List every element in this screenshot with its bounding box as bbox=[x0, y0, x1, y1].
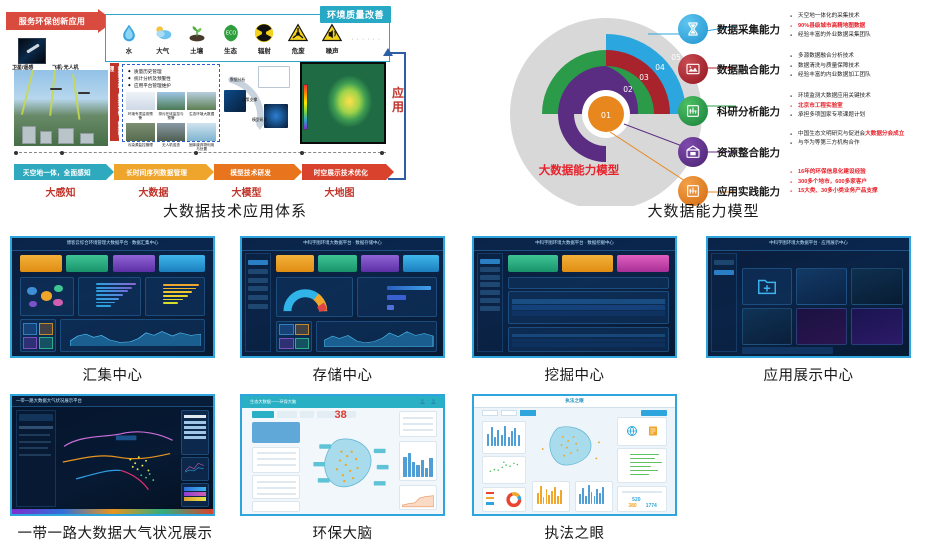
capability-bullets-4: 中国生态文明研究与促进会大数据分会成立 与华为等第三方机构合作 bbox=[790, 130, 937, 149]
thumb-waste bbox=[187, 123, 216, 141]
bullet: 与华为等第三方机构合作 bbox=[790, 139, 937, 149]
map-mini-chart bbox=[181, 457, 209, 481]
bullet: 承担多项国家专项课题计划 bbox=[790, 111, 937, 121]
storage-bars-card bbox=[357, 277, 437, 317]
kpi-card-2 bbox=[318, 255, 356, 273]
light-dashboard-screenshot: 执法之眼 bbox=[474, 396, 675, 514]
noise-warning-icon bbox=[322, 23, 342, 43]
trend-chart-card bbox=[316, 321, 437, 353]
photo-caption: 污染源监控管理 bbox=[126, 143, 155, 152]
map-screenshot: 一带一路大数据大气状况展示平台 bbox=[12, 396, 213, 514]
drone-icon bbox=[50, 88, 62, 90]
flow-step-text: 模型技术研发 bbox=[230, 167, 271, 177]
dashboard-title: 中科宇图环境大数据平台 · 数据存储中心 bbox=[303, 240, 382, 246]
add-application-card[interactable] bbox=[742, 268, 792, 306]
capability-row-3[interactable]: 科研分析能力 bbox=[678, 96, 780, 126]
legend-swatch bbox=[486, 492, 494, 495]
capability-name-4: 资源整合能力 bbox=[717, 145, 780, 160]
bullet: 经验丰富的内业数据加工团队 bbox=[790, 71, 937, 81]
dashboard-screenshot: 中科宇图环境大数据平台 · 应用展示中心 bbox=[708, 238, 909, 356]
photo-caption: 固体废弃物利用与处置 bbox=[187, 143, 216, 152]
table-row bbox=[512, 339, 664, 342]
tech-application-system-panel: 服务环保创新应用 水 大气 bbox=[0, 0, 470, 228]
kpi-card-4 bbox=[403, 255, 439, 273]
trend-area-chart bbox=[70, 327, 201, 346]
site-dots-green bbox=[141, 473, 155, 481]
ring-number-03: 03 bbox=[639, 73, 649, 82]
model-cap-label: 模型研发 bbox=[252, 118, 267, 123]
left-stat-card-2 bbox=[252, 475, 300, 499]
eco-leaf-icon: ECO bbox=[221, 23, 241, 43]
app-thumb-card[interactable] bbox=[742, 308, 792, 346]
sensing-ray bbox=[72, 74, 80, 120]
scatter-plot bbox=[487, 460, 521, 475]
table-row bbox=[512, 311, 664, 316]
flow-step-1: 天空地一体，全面感知 bbox=[14, 164, 106, 180]
building-shape bbox=[40, 131, 52, 144]
tab[interactable] bbox=[300, 411, 314, 418]
building-shape bbox=[80, 133, 94, 144]
left-stat-card-3 bbox=[252, 501, 300, 512]
bullet: 15大类、30多小类业务产品支撑 bbox=[790, 187, 937, 197]
summary-value-3: 1774 bbox=[646, 503, 657, 509]
region-map-vector bbox=[532, 417, 612, 478]
env-item-atmosphere: 大气 bbox=[146, 23, 180, 55]
capability-name-2: 数据融合能力 bbox=[717, 62, 780, 77]
thumbnail-caption-2: 存储中心 bbox=[240, 364, 445, 385]
satellite-photo bbox=[18, 38, 46, 64]
flow-step-text: 天空地一体，全面感知 bbox=[23, 167, 91, 177]
flow-arrow-icon bbox=[206, 164, 214, 180]
light-title: 执法之眼 bbox=[565, 398, 583, 404]
capability-bullets-1: 天空地一体化的采集技术 90%县级城市高精地图数据 经验丰富的外业数据采集团队 bbox=[790, 12, 937, 41]
timeline-dotted-line bbox=[14, 152, 386, 153]
soil-sprout-icon bbox=[187, 23, 207, 43]
bullet: 90%县级城市高精地图数据 bbox=[790, 22, 937, 32]
donut-chart bbox=[505, 491, 523, 508]
bullet-highlight: 大数据分会成立 bbox=[865, 131, 904, 137]
kpi-card-2 bbox=[66, 255, 108, 273]
dashboard-screenshot: 中科宇图环境大数据平台 · 数据挖掘中心 bbox=[474, 238, 675, 356]
bar-chart-card bbox=[482, 421, 526, 454]
legend-swatch bbox=[486, 497, 494, 500]
flow-diagram-image bbox=[258, 66, 290, 88]
summary-value-1: 520 bbox=[632, 497, 640, 503]
bullet: 应用平台管理维护 bbox=[128, 82, 216, 89]
flow-label-1: 大感知 bbox=[14, 184, 107, 199]
bullet: 天空地一体化的采集技术 bbox=[790, 12, 937, 22]
timeline-dot bbox=[14, 151, 18, 155]
env-label: 辐射 bbox=[258, 45, 271, 55]
stat-cards bbox=[20, 319, 56, 352]
thumbnail-caption-3: 挖掘中心 bbox=[472, 364, 677, 385]
archive-box-icon bbox=[685, 144, 701, 160]
left-stat-card bbox=[252, 447, 300, 473]
bar-rank-card bbox=[78, 277, 140, 316]
bullet-highlight: 北京市工程实验室 bbox=[790, 102, 937, 112]
tab-bar[interactable] bbox=[482, 410, 536, 416]
right-stat-card bbox=[399, 411, 437, 437]
right-bar-chart-card bbox=[399, 441, 437, 481]
world-map-vector bbox=[58, 410, 179, 507]
tab-active[interactable] bbox=[252, 411, 274, 418]
thumbnail-eco-brain[interactable]: 生态大数据——环保大脑 38 bbox=[240, 394, 445, 516]
env-item-water: 水 bbox=[112, 23, 146, 55]
table-header-row bbox=[512, 334, 664, 337]
capability-row-4[interactable]: 资源整合能力 bbox=[678, 137, 780, 167]
flow-step-text: 长时间序列数据管理 bbox=[126, 167, 187, 177]
lab-analysis-icon bbox=[685, 103, 701, 119]
chart-image-icon bbox=[685, 61, 701, 77]
bubble bbox=[41, 291, 52, 301]
flow-label-4: 大地图 bbox=[293, 184, 386, 199]
flow-label-2: 大数据 bbox=[107, 184, 200, 199]
right-trend-card bbox=[399, 485, 437, 511]
capability-icon-wrap-2 bbox=[678, 54, 708, 84]
building-shape bbox=[58, 128, 74, 144]
capability-icon-wrap-3 bbox=[678, 96, 708, 126]
bubble bbox=[29, 301, 37, 308]
dashboard-title: 中科宇图环境大数据平台 · 应用展示中心 bbox=[769, 240, 848, 246]
app-thumb-card[interactable] bbox=[796, 268, 846, 306]
env-label: 危废 bbox=[292, 45, 305, 55]
ring-number-01: 01 bbox=[601, 111, 611, 120]
add-folder-icon bbox=[756, 275, 778, 297]
route-line-blue bbox=[76, 470, 121, 479]
capability-name-5: 应用实践能力 bbox=[717, 184, 780, 199]
flow-step-3: 模型技术研发 bbox=[214, 164, 294, 180]
tab[interactable] bbox=[482, 410, 498, 416]
big-data-capability-model-panel: 01 02 03 04 05 大数据能力模型 数据采集能力 天空地一体化的采集技… bbox=[470, 0, 937, 228]
light-title: 生态大数据——环保大脑 bbox=[250, 399, 296, 405]
timeline-dot bbox=[380, 151, 384, 155]
map-search-input[interactable] bbox=[19, 414, 53, 421]
bullet: 质量历史管理 bbox=[128, 68, 216, 75]
trend-area-chart bbox=[324, 328, 433, 347]
env-item-soil: 土壤 bbox=[180, 23, 214, 55]
environment-quality-tag: 环境质量改善 bbox=[320, 6, 391, 23]
dashboard-sidebar[interactable] bbox=[477, 253, 503, 352]
dashboard-title: 博客云综合环境管理大数据平台 · 数据汇集中心 bbox=[67, 240, 159, 246]
data-management-box: 质量历史管理 统计分析及预警性 应用平台管理维护 环境专项监测预警 排污在线监控… bbox=[122, 64, 220, 142]
bullet: 环境监测大数据应用关键技术 bbox=[790, 92, 937, 102]
region-rank-card bbox=[617, 448, 667, 483]
dashboard-sidebar[interactable] bbox=[711, 253, 737, 352]
ring-number-04: 04 bbox=[655, 63, 665, 72]
model-rank-card bbox=[508, 327, 669, 353]
scatter-chart-card bbox=[482, 456, 526, 484]
env-label: 水 bbox=[126, 45, 133, 55]
thumb-chart bbox=[126, 92, 155, 110]
chart-center-label: 大数据能力模型 bbox=[504, 162, 654, 178]
bullet: 数据清洗与质量保障技术 bbox=[790, 62, 937, 72]
hourglass-icon bbox=[685, 21, 701, 37]
flow-step-2: 长时间序列数据管理 bbox=[114, 164, 206, 180]
app-thumb-card[interactable] bbox=[851, 268, 903, 306]
table-row bbox=[512, 343, 664, 346]
photo-caption: 无人机巡查 bbox=[157, 143, 186, 152]
stat-cards bbox=[276, 321, 312, 353]
ground-sensing-photo bbox=[14, 70, 108, 146]
svg-text:ECO: ECO bbox=[225, 31, 236, 37]
bullet: 多源数据融合分析技术 bbox=[790, 52, 937, 62]
map-bottom-legend bbox=[12, 509, 213, 514]
flow-step-text: 时空展示技术优化 bbox=[314, 167, 368, 177]
hazard-warning-icon bbox=[288, 23, 308, 43]
table-row bbox=[512, 305, 664, 310]
model-cap-label: 决策支撑 bbox=[242, 98, 257, 103]
dashboard-title: 中科宇图环境大数据平台 · 数据挖掘中心 bbox=[535, 240, 614, 246]
cloud-sun-icon bbox=[153, 23, 173, 43]
user-icons[interactable] bbox=[419, 398, 437, 405]
thumbnail-caption-6: 环保大脑 bbox=[240, 522, 445, 543]
thumbnail-caption-4: 应用展示中心 bbox=[706, 364, 911, 385]
tab[interactable] bbox=[277, 411, 297, 418]
map-info-panel bbox=[16, 410, 56, 507]
kpi-card-3 bbox=[113, 255, 155, 273]
photo-caption: 排污在线监控与预警 bbox=[157, 112, 186, 121]
thumbnail-caption-1: 汇集中心 bbox=[10, 364, 215, 385]
water-drop-icon bbox=[119, 23, 139, 43]
aqi-value: 38 bbox=[334, 409, 346, 421]
kpi-card-1 bbox=[276, 255, 314, 273]
summary-card: 520 380 1774 bbox=[617, 486, 667, 512]
spatiotemporal-map-photo bbox=[300, 62, 386, 144]
sensing-ray bbox=[21, 70, 34, 115]
thumb-uav bbox=[157, 123, 186, 141]
orange-bar-card bbox=[532, 481, 570, 512]
trend-chart-card bbox=[60, 319, 205, 352]
mini-line-chart bbox=[184, 460, 206, 473]
quick-links-card[interactable] bbox=[617, 417, 667, 445]
map-color-legend bbox=[181, 483, 209, 507]
ring-number-02: 02 bbox=[623, 85, 633, 94]
application-bracket bbox=[388, 52, 406, 180]
task-table-card bbox=[508, 291, 669, 324]
thumbnail-caption-5: 一带一路大数据大气状况展示 bbox=[0, 522, 230, 543]
drone-icon bbox=[78, 92, 90, 94]
photo-caption: 生态环境大数据 bbox=[187, 112, 216, 121]
env-item-ecology: ECO 生态 bbox=[214, 23, 248, 55]
legend-swatch bbox=[486, 502, 494, 505]
process-flow-row: 天空地一体，全面感知 长时间序列数据管理 模型技术研发 时空展示技术优化 bbox=[14, 164, 386, 180]
bubble bbox=[53, 299, 62, 307]
capability-bullets-5: 16年的环保信息化建设经验 300多个地市，600多家客户 15大类、30多小类… bbox=[790, 168, 937, 197]
application-vertical-label: 应用 bbox=[392, 86, 404, 114]
app-thumb-card[interactable] bbox=[796, 308, 846, 346]
dashboard-sidebar[interactable] bbox=[245, 253, 271, 352]
timeline-dot bbox=[300, 151, 304, 155]
model-cap-label: 数据分析 bbox=[230, 78, 245, 83]
tab-active[interactable] bbox=[520, 410, 536, 416]
thumbnail-storage-center[interactable]: 中科宇图环境大数据平台 · 数据存储中心 bbox=[240, 236, 445, 358]
capability-bullets-3: 环境监测大数据应用关键技术 北京市工程实验室 承担多项国家专项课题计划 bbox=[790, 92, 937, 121]
kpi-card-1 bbox=[20, 255, 62, 273]
quality-rank-card bbox=[145, 277, 205, 316]
capability-row-1[interactable]: 数据采集能力 bbox=[678, 14, 780, 44]
right-section-title: 大数据能力模型 bbox=[470, 200, 937, 221]
env-item-noise: 噪声 bbox=[315, 23, 349, 55]
mini-area-chart bbox=[402, 492, 434, 507]
application-photo-grid: 环境专项监测预警 排污在线监控与预警 生态环境大数据 污染源监控管理 无人机巡查… bbox=[126, 92, 216, 152]
left-section-title: 大数据技术应用体系 bbox=[0, 200, 470, 221]
flow-arrow-icon bbox=[294, 164, 302, 180]
bullet: 中国生态文明研究与促进会大数据分会成立 bbox=[790, 130, 937, 139]
kpi-card-3 bbox=[361, 255, 399, 273]
bubble bbox=[27, 287, 36, 295]
export-button[interactable] bbox=[641, 410, 667, 416]
application-arrow-icon bbox=[383, 48, 393, 56]
document-icon[interactable] bbox=[647, 425, 659, 437]
flow-arrow-icon bbox=[106, 164, 114, 180]
thumbnail-collection-center[interactable]: 博客云综合环境管理大数据平台 · 数据汇集中心 bbox=[10, 236, 215, 358]
thumbnail-belt-road-map[interactable]: 一带一路大数据大气状况展示平台 bbox=[10, 394, 215, 516]
user-icon[interactable] bbox=[430, 398, 437, 405]
bullet: 16年的环保信息化建设经验 bbox=[790, 168, 937, 178]
app-thumb-card[interactable] bbox=[851, 308, 903, 346]
kpi-card-3 bbox=[617, 255, 669, 273]
thumb-soil bbox=[126, 123, 155, 141]
bullet: 300多个地市，600多家客户 bbox=[790, 178, 937, 188]
aqi-highlight-card bbox=[252, 422, 300, 443]
thumb-field bbox=[157, 92, 186, 110]
donut-gauge-icon bbox=[283, 285, 328, 314]
env-more-dots: · · · · · · bbox=[349, 36, 383, 43]
light-dashboard-screenshot: 生态大数据——环保大脑 38 bbox=[242, 396, 443, 514]
table-header-row bbox=[512, 299, 664, 304]
capability-name-1: 数据采集能力 bbox=[717, 22, 780, 37]
sensing-ray bbox=[49, 70, 56, 116]
timeline-dot bbox=[194, 151, 198, 155]
route-line-pink bbox=[121, 471, 149, 490]
donut-chart-card bbox=[482, 487, 526, 512]
map-legend-scalebar bbox=[303, 84, 308, 130]
map-legend-panel bbox=[181, 410, 209, 455]
service-innovation-banner: 服务环保创新应用 bbox=[6, 12, 98, 30]
tab[interactable] bbox=[501, 410, 517, 416]
env-label: 噪声 bbox=[326, 45, 339, 55]
thumbnail-enforcement-eye[interactable]: 执法之眼 bbox=[472, 394, 677, 516]
dashboard-screenshot: 博客云综合环境管理大数据平台 · 数据汇集中心 bbox=[12, 238, 213, 356]
pagination-bar[interactable] bbox=[742, 347, 832, 354]
process-label-row: 大感知 大数据 大模型 大地图 bbox=[14, 184, 386, 199]
kpi-card-4 bbox=[159, 255, 205, 273]
dashboard-screenshot: 中科宇图环境大数据平台 · 数据存储中心 bbox=[242, 238, 443, 356]
data-pipeline-vertical-label: 数据汇集 数据存储 数据管理 bbox=[110, 63, 119, 141]
capability-row-2[interactable]: 数据融合能力 bbox=[678, 54, 780, 84]
route-line-orange bbox=[63, 454, 170, 462]
thumbnail-application-center[interactable]: 中科宇图环境大数据平台 · 应用展示中心 bbox=[706, 236, 911, 358]
blue-bar-card bbox=[575, 481, 613, 512]
running-task-row bbox=[508, 277, 669, 289]
timeline-dot bbox=[60, 151, 64, 155]
kpi-card-2 bbox=[562, 255, 612, 273]
map-raster bbox=[302, 64, 384, 142]
flow-label-3: 大模型 bbox=[200, 184, 293, 199]
user-icon[interactable] bbox=[419, 398, 426, 405]
flow-step-4: 时空展示技术优化 bbox=[302, 164, 386, 180]
thumb-monitor bbox=[187, 92, 216, 110]
env-label: 大气 bbox=[156, 45, 169, 55]
capability-icon-wrap-4 bbox=[678, 137, 708, 167]
province-map-vector bbox=[306, 422, 394, 509]
bubble-chart-card bbox=[20, 277, 74, 316]
practice-icon bbox=[685, 183, 701, 199]
kpi-card-1 bbox=[508, 255, 558, 273]
radiation-icon bbox=[254, 23, 274, 43]
model-research-area: 数据分析 决策支撑 模型研发 bbox=[224, 64, 296, 142]
summary-value-2: 380 bbox=[628, 503, 636, 509]
env-item-hazardous-waste: 危废 bbox=[281, 23, 315, 55]
map-tag-box bbox=[116, 436, 137, 441]
bullet: 经验丰富的外业数据采集团队 bbox=[790, 31, 937, 41]
thumbnail-mining-center[interactable]: 中科宇图环境大数据平台 · 数据挖掘中心 bbox=[472, 236, 677, 358]
bullet: 统计分析及预警性 bbox=[128, 75, 216, 82]
globe-icon[interactable] bbox=[626, 425, 638, 437]
building-shape bbox=[22, 126, 36, 144]
env-item-radiation: 辐射 bbox=[247, 23, 281, 55]
bubble bbox=[54, 285, 62, 292]
gauge-card bbox=[276, 277, 352, 317]
capability-bullets-2: 多源数据融合分析技术 数据清洗与质量保障技术 经验丰富的内业数据加工团队 bbox=[790, 52, 937, 81]
network-graph-image bbox=[264, 104, 288, 128]
data-management-bullets: 质量历史管理 统计分析及预警性 应用平台管理维护 bbox=[126, 68, 216, 89]
map-title: 一带一路大数据大气状况展示平台 bbox=[16, 398, 82, 404]
thumbnail-caption-7: 执法之眼 bbox=[472, 522, 677, 543]
capability-name-3: 科研分析能力 bbox=[717, 104, 780, 119]
env-label: 生态 bbox=[224, 45, 237, 55]
photo-caption: 环境专项监测预警 bbox=[126, 112, 155, 121]
capability-icon-wrap-1 bbox=[678, 14, 708, 44]
env-label: 土壤 bbox=[190, 45, 203, 55]
